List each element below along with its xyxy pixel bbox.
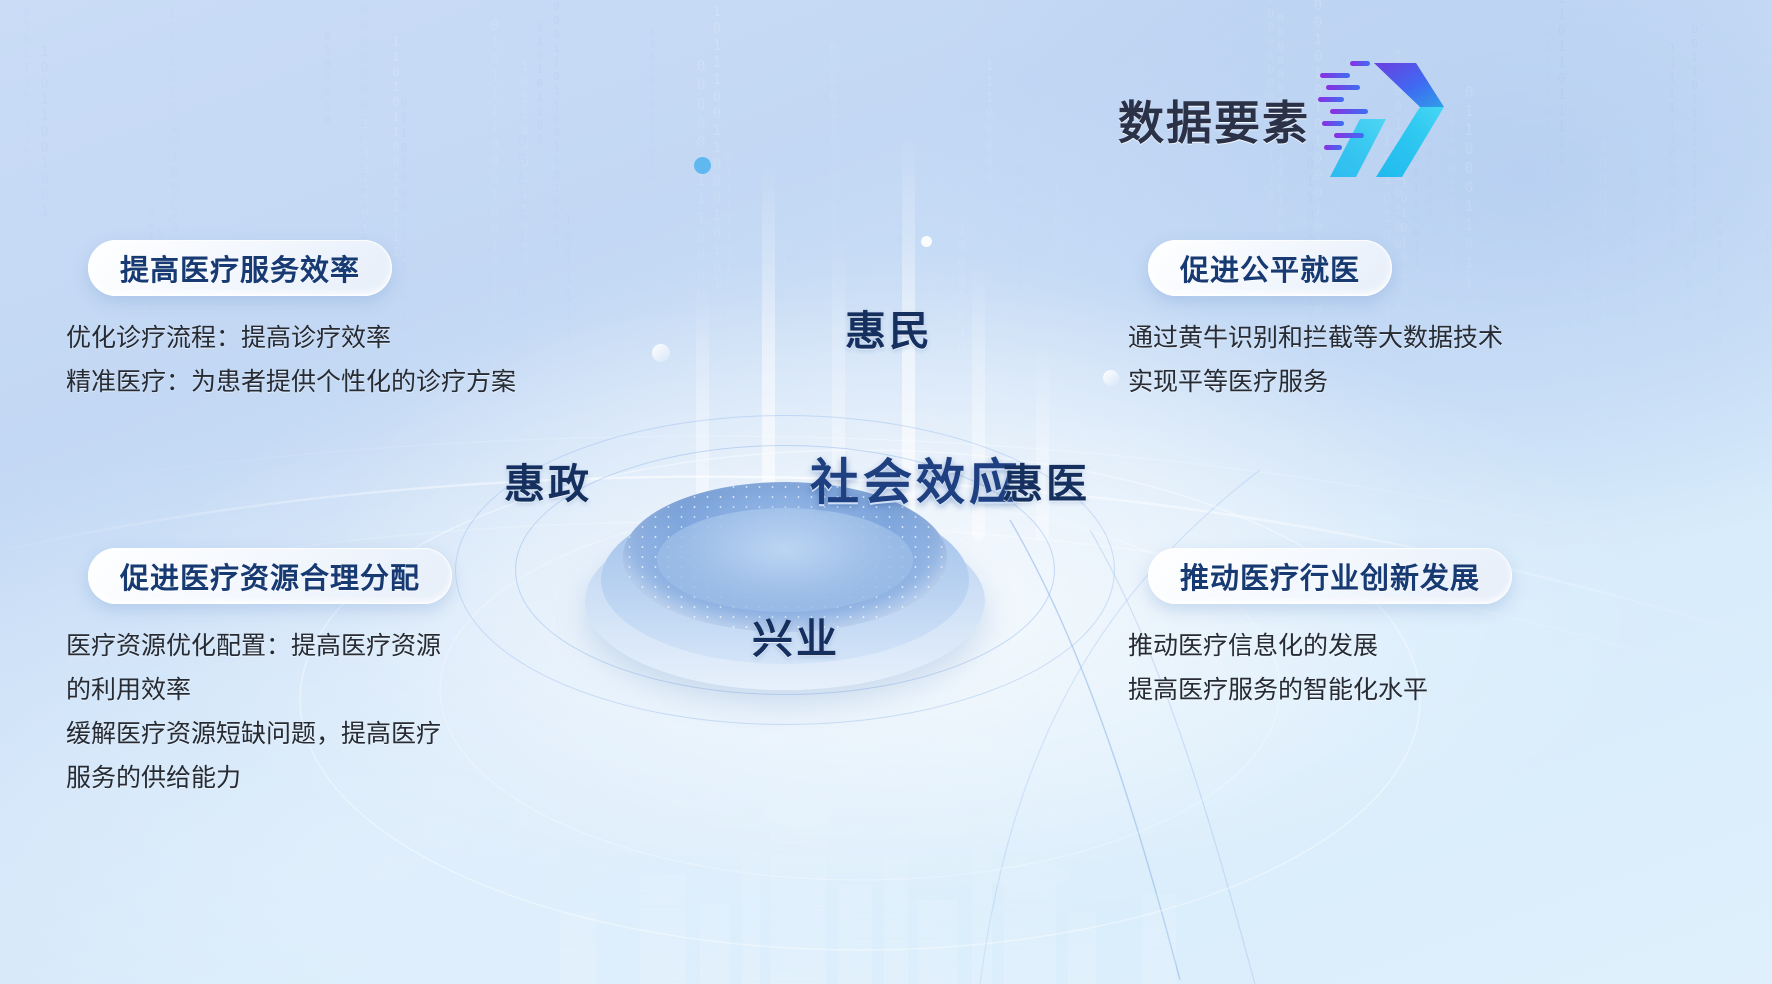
binary-column: 110101101 [530, 21, 549, 147]
binary-column: 1011111 [558, 211, 577, 344]
binary-column: 00110110000001010111 [1578, 220, 1597, 470]
binary-column: 0000110110011010001 [547, 0, 566, 252]
float-dot [921, 236, 932, 247]
info-block-bottom-left: 促进医疗资源合理分配 医疗资源优化配置：提高医疗资源 的利用效率 缓解医疗资源短… [66, 548, 452, 800]
desc-line: 优化诊疗流程：提高诊疗效率 [66, 316, 516, 360]
desc-line: 服务的供给能力 [66, 756, 452, 800]
block-title-bottom-left: 促进医疗资源合理分配 [88, 548, 452, 604]
binary-column: 11011011111 [1552, 0, 1571, 168]
binary-column: 1110110111100 [1757, 228, 1772, 423]
desc-line: 缓解医疗资源短缺问题，提高医疗 [66, 712, 452, 756]
float-dot [694, 157, 711, 174]
brand-name: 数据要素 [1118, 87, 1310, 153]
binary-column: 110101100111111 [386, 35, 405, 260]
block-title-bottom-right: 推动医疗行业创新发展 [1148, 548, 1512, 604]
binary-column: 0101000110011101 [1623, 166, 1642, 438]
binary-column: 0100000 [318, 30, 337, 128]
binary-column: 00110111111111101 [1685, 23, 1704, 261]
binary-column: 10011001001 [35, 45, 54, 221]
petal-label-left: 惠政 [504, 450, 592, 510]
desc-line: 精准医疗：为患者提供个性化的诊疗方案 [66, 360, 516, 404]
binary-column: 1001010111110 [643, 28, 662, 184]
brand-logo: 数据要素 [1118, 55, 1456, 185]
binary-column: 0001111011110100010 [1539, 0, 1558, 296]
petal-label-top: 惠民 [845, 297, 933, 357]
binary-column: 010001101000000 [1565, 242, 1584, 467]
binary-column: 10010101001110 [162, 6, 181, 230]
podium-inner-well [657, 508, 913, 612]
binary-column: 0000110000111111 [824, 42, 843, 298]
binary-column: 011111110010 [719, 149, 738, 341]
block-desc-bottom-right: 推动医疗信息化的发展 提高医疗服务的智能化水平 [1128, 624, 1512, 712]
desc-line: 提高医疗服务的智能化水平 [1128, 668, 1512, 712]
hub-center-label: 社会效应 [810, 443, 1022, 514]
block-title-top-left: 提高医疗服务效率 [88, 240, 392, 296]
binary-column: 0110111001100010101 [707, 0, 726, 293]
binary-column: 11100000 [980, 59, 999, 187]
desc-line: 通过黄牛识别和拦截等大数据技术 [1128, 316, 1503, 360]
desc-line: 的利用效率 [66, 668, 452, 712]
binary-column: 0000001110000 [691, 57, 710, 304]
x-logo-mark [1316, 55, 1456, 185]
desc-line: 推动医疗信息化的发展 [1128, 624, 1512, 668]
info-block-top-left: 提高医疗服务效率 优化诊疗流程：提高诊疗效率 精准医疗：为患者提供个性化的诊疗方… [66, 240, 516, 404]
block-desc-top-right: 通过黄牛识别和拦截等大数据技术 实现平等医疗服务 [1128, 316, 1503, 404]
binary-column: 10000010 [952, 222, 971, 358]
binary-column: 0001111000001011 [1710, 216, 1729, 408]
block-desc-top-left: 优化诊疗流程：提高诊疗效率 精准医疗：为患者提供个性化的诊疗方案 [66, 316, 516, 404]
petal-label-right: 惠医 [1002, 450, 1090, 510]
block-desc-bottom-left: 医疗资源优化配置：提高医疗资源 的利用效率 缓解医疗资源短缺问题，提高医疗 服务… [66, 624, 452, 800]
binary-column: 100001010111100101 [1593, 138, 1612, 444]
slide-canvas: 1011000111010101111100110111111111101100… [0, 0, 1772, 984]
center-hub [455, 360, 1115, 780]
binary-column: 01001101110011 [17, 5, 36, 201]
block-title-top-right: 促进公平就医 [1148, 240, 1392, 296]
desc-line: 医疗资源优化配置：提高医疗资源 [66, 624, 452, 668]
binary-column: 110010010 [355, 117, 374, 252]
binary-column: 01101010110 [1678, 260, 1697, 436]
binary-column: 1100000 [1047, 183, 1066, 288]
petal-label-bottom: 兴业 [752, 605, 840, 665]
binary-column: 1011000111010 [515, 59, 534, 267]
desc-line: 实现平等医疗服务 [1128, 360, 1503, 404]
binary-column: 11111110000010 [1662, 41, 1681, 251]
info-block-top-right: 促进公平就医 通过黄牛识别和拦截等大数据技术 实现平等医疗服务 [1128, 240, 1503, 404]
info-block-bottom-right: 推动医疗行业创新发展 推动医疗信息化的发展 提高医疗服务的智能化水平 [1128, 548, 1512, 712]
